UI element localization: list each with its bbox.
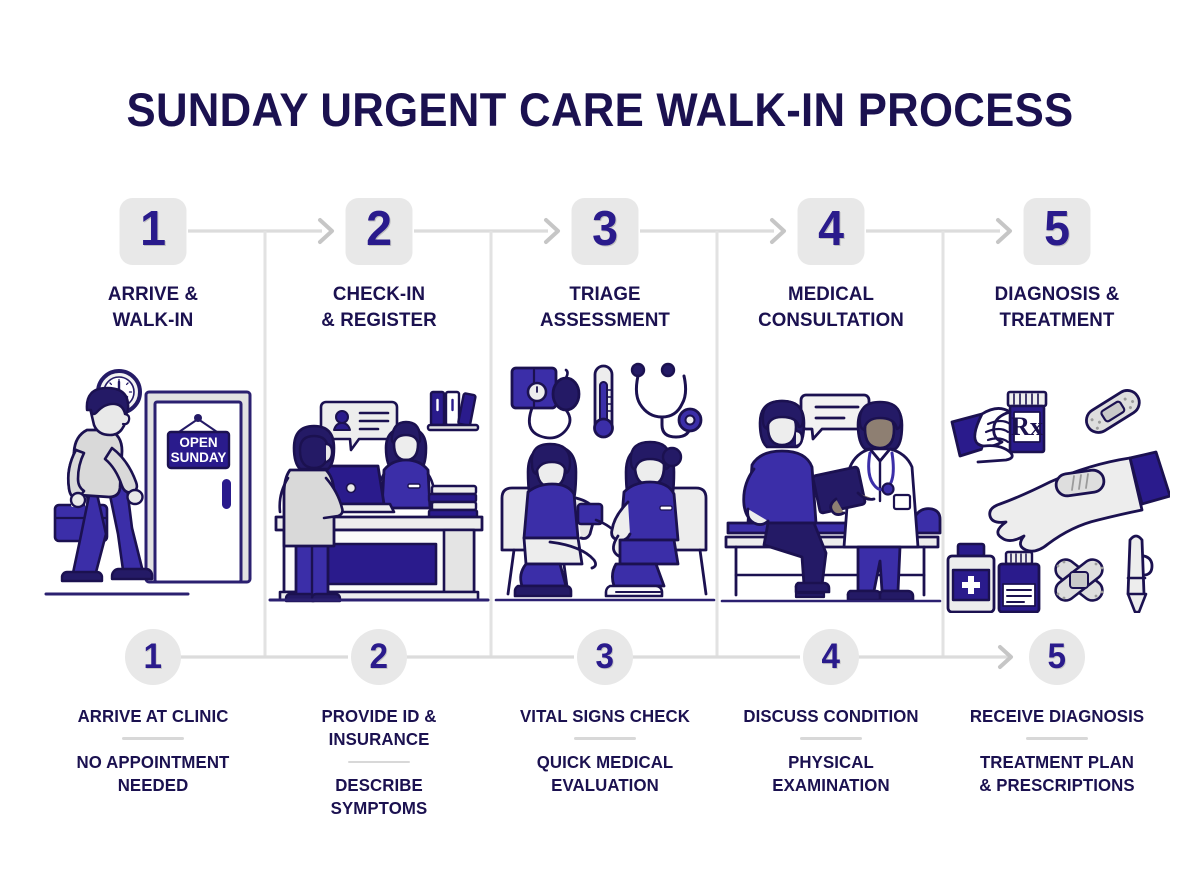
step-heading-4-line1: MEDICAL xyxy=(723,281,940,307)
step-badge-4: 4 xyxy=(798,198,865,265)
open-sign-line1: OPEN xyxy=(179,435,217,450)
bottom-badge-2: 2 xyxy=(351,629,407,685)
caption-2: PROVIDE ID & INSURANCE DESCRIBE SYMPTOMS xyxy=(266,705,492,821)
bottom-number-1: 1 xyxy=(144,639,162,674)
caption-4-rule xyxy=(800,737,862,740)
illustration-consultation xyxy=(718,375,944,613)
caption-5: RECEIVE DIAGNOSIS TREATMENT PLAN & PRESC… xyxy=(944,705,1170,797)
step-heading-5-line1: DIAGNOSIS & xyxy=(949,281,1166,307)
stethoscope-icon xyxy=(632,364,701,437)
step-number-4: 4 xyxy=(818,205,844,254)
caption-3-rule xyxy=(574,737,636,740)
step-heading-5: DIAGNOSIS & TREATMENT xyxy=(949,281,1166,334)
step-heading-2-line2: & REGISTER xyxy=(271,307,488,333)
caption-5-line2: TREATMENT PLAN xyxy=(949,751,1166,774)
step-heading-4: MEDICAL CONSULTATION xyxy=(723,281,940,334)
step-heading-1-line2: WALK-IN xyxy=(45,307,262,333)
caption-1-line3: NEEDED xyxy=(45,774,262,797)
blood-pressure-icon xyxy=(512,368,579,438)
caption-5-line3: & PRESCRIPTIONS xyxy=(949,774,1166,797)
caption-1-line1: ARRIVE AT CLINIC xyxy=(45,705,262,728)
illustration-check-in xyxy=(266,378,492,613)
caption-2-rule xyxy=(348,761,410,764)
caption-3: VITAL SIGNS CHECK QUICK MEDICAL EVALUATI… xyxy=(492,705,718,797)
illustration-arrive-walkin: OPEN SUNDAY xyxy=(40,358,266,613)
caption-3-line3: EVALUATION xyxy=(497,774,714,797)
step-column-1: 1 ARRIVE & WALK-IN xyxy=(40,0,266,896)
bottom-badge-4: 4 xyxy=(803,629,859,685)
step-number-3: 3 xyxy=(592,205,618,254)
bottom-badge-1: 1 xyxy=(125,629,181,685)
step-heading-3-line1: TRIAGE xyxy=(497,281,714,307)
caption-2-line1: PROVIDE ID & xyxy=(271,705,488,728)
step-heading-3: TRIAGE ASSESSMENT xyxy=(497,281,714,334)
step-heading-5-line2: TREATMENT xyxy=(949,307,1166,333)
rx-label: Rx xyxy=(1011,412,1043,441)
step-heading-2-line1: CHECK-IN xyxy=(271,281,488,307)
crossed-bandages-icon xyxy=(1052,555,1107,604)
pill-bottle-icon xyxy=(999,552,1039,612)
illustration-diagnosis-treatment: Rx xyxy=(944,370,1170,613)
step-number-1: 1 xyxy=(140,205,166,254)
step-column-4: 4 MEDICAL CONSULTATION xyxy=(718,0,944,896)
thermometer-icon xyxy=(595,366,613,437)
medicine-bottle-icon xyxy=(948,544,994,612)
step-column-3: 3 TRIAGE ASSESSMENT xyxy=(492,0,718,896)
bottom-number-2: 2 xyxy=(370,639,388,674)
step-column-2: 2 CHECK-IN & REGISTER xyxy=(266,0,492,896)
infographic-page: SUNDAY URGENT CARE WALK-IN PROCESS xyxy=(0,0,1200,896)
step-heading-2: CHECK-IN & REGISTER xyxy=(271,281,488,334)
step-badge-1: 1 xyxy=(120,198,187,265)
bottom-badge-5: 5 xyxy=(1029,629,1085,685)
caption-3-line2: QUICK MEDICAL xyxy=(497,751,714,774)
bottom-number-3: 3 xyxy=(596,639,614,674)
caption-2-line1b: INSURANCE xyxy=(271,728,488,751)
step-heading-4-line2: CONSULTATION xyxy=(723,307,940,333)
step-heading-3-line2: ASSESSMENT xyxy=(497,307,714,333)
bottom-number-5: 5 xyxy=(1048,639,1066,674)
open-sign-line2: SUNDAY xyxy=(171,450,227,465)
bottom-number-4: 4 xyxy=(822,639,840,674)
bandage-icon xyxy=(1082,386,1144,437)
step-heading-1: ARRIVE & WALK-IN xyxy=(45,281,262,334)
caption-4-line2: PHYSICAL xyxy=(723,751,940,774)
caption-5-line1: RECEIVE DIAGNOSIS xyxy=(949,705,1166,728)
caption-5-rule xyxy=(1026,737,1088,740)
illustration-triage xyxy=(492,360,718,613)
caption-4-line1: DISCUSS CONDITION xyxy=(723,705,940,728)
steps-container: 1 ARRIVE & WALK-IN xyxy=(0,0,1200,896)
caption-1-line2: NO APPOINTMENT xyxy=(45,751,262,774)
step-number-5: 5 xyxy=(1044,205,1070,254)
caption-1-rule xyxy=(122,737,184,740)
step-badge-2: 2 xyxy=(346,198,413,265)
caption-1: ARRIVE AT CLINIC NO APPOINTMENT NEEDED xyxy=(40,705,266,797)
caption-4: DISCUSS CONDITION PHYSICAL EXAMINATION xyxy=(718,705,944,797)
caption-4-line3: EXAMINATION xyxy=(723,774,940,797)
pen-icon xyxy=(1128,536,1152,612)
step-badge-5: 5 xyxy=(1024,198,1091,265)
step-badge-3: 3 xyxy=(572,198,639,265)
bottom-badge-3: 3 xyxy=(577,629,633,685)
step-column-5: 5 DIAGNOSIS & TREATMENT xyxy=(944,0,1170,896)
step-heading-1-line1: ARRIVE & xyxy=(45,281,262,307)
caption-2-line3: SYMPTOMS xyxy=(271,797,488,820)
caption-2-line2: DESCRIBE xyxy=(271,774,488,797)
step-number-2: 2 xyxy=(366,205,392,254)
caption-3-line1: VITAL SIGNS CHECK xyxy=(497,705,714,728)
